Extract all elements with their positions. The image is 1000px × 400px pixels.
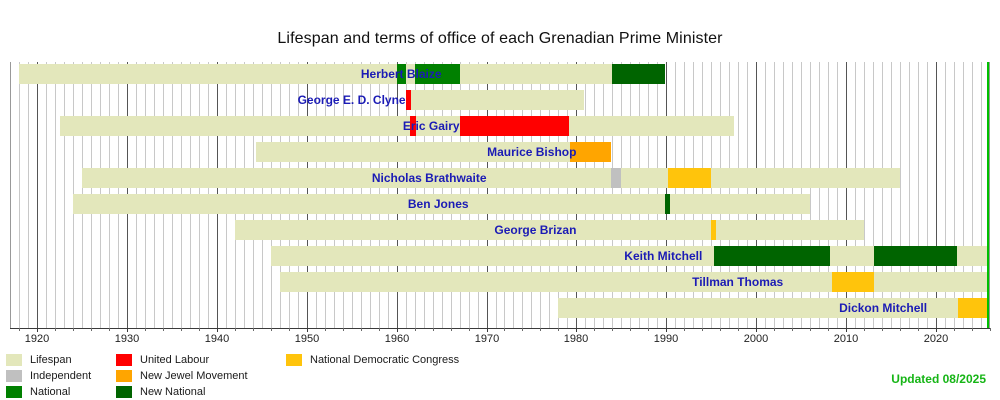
axis-tick-minor (882, 328, 883, 331)
timeline-row: Eric Gairy (10, 116, 990, 136)
timeline-row: Keith Mitchell (10, 246, 990, 266)
term-segment (612, 64, 665, 84)
axis-tick-minor (684, 328, 685, 331)
term-segment (711, 220, 715, 240)
timeline-row: George E. D. Clyne (10, 90, 990, 110)
row-label: Tillman Thomas (692, 272, 783, 292)
timeline-row: Tillman Thomas (10, 272, 990, 292)
term-segment (611, 168, 621, 188)
legend-swatch (6, 386, 22, 398)
axis-tick-minor (145, 328, 146, 331)
axis-tick-minor (972, 328, 973, 331)
timeline-row: Nicholas Brathwaite (10, 168, 990, 188)
term-segment (406, 90, 411, 110)
lifespan-bar (280, 272, 988, 292)
axis-tick-major (397, 328, 398, 332)
axis-tick-minor (648, 328, 649, 331)
axis-tick-minor (469, 328, 470, 331)
axis-tick-label: 1980 (564, 333, 588, 345)
axis-tick-minor (612, 328, 613, 331)
term-segment (460, 116, 570, 136)
x-axis: 1920193019401950196019701980199020002010… (10, 328, 990, 354)
axis-tick-minor (504, 328, 505, 331)
axis-tick-minor (522, 328, 523, 331)
legend-swatch (6, 370, 22, 382)
row-label: Dickon Mitchell (839, 298, 927, 318)
term-segment (668, 168, 711, 188)
axis-tick-minor (630, 328, 631, 331)
axis-tick-minor (271, 328, 272, 331)
axis-tick-minor (720, 328, 721, 331)
legend-label: Independent (30, 369, 91, 383)
lifespan-bar (19, 64, 665, 84)
legend-label: New Jewel Movement (140, 369, 248, 383)
legend-swatch (116, 386, 132, 398)
chart-legend: LifespanIndependentNationalUnited Labour… (6, 353, 646, 399)
axis-tick-minor (702, 328, 703, 331)
axis-tick-minor (864, 328, 865, 331)
axis-tick-minor (990, 328, 991, 331)
axis-tick-minor (19, 328, 20, 331)
axis-tick-major (37, 328, 38, 332)
row-label: Nicholas Brathwaite (372, 168, 487, 188)
axis-tick-major (666, 328, 667, 332)
axis-tick-label: 1920 (25, 333, 49, 345)
axis-tick-label: 2000 (744, 333, 768, 345)
axis-tick-minor (558, 328, 559, 331)
timeline-row: George Brizan (10, 220, 990, 240)
axis-tick-minor (415, 328, 416, 331)
axis-tick-minor (594, 328, 595, 331)
axis-tick-label: 1950 (295, 333, 319, 345)
row-label: Ben Jones (408, 194, 469, 214)
axis-tick-minor (109, 328, 110, 331)
axis-tick-label: 2020 (924, 333, 948, 345)
axis-tick-label: 1990 (654, 333, 678, 345)
legend-swatch (6, 354, 22, 366)
legend-label: New National (140, 385, 205, 399)
axis-tick-minor (163, 328, 164, 331)
updated-stamp: Updated 08/2025 (891, 372, 986, 386)
legend-label: National (30, 385, 70, 399)
legend-swatch (116, 370, 132, 382)
axis-tick-minor (810, 328, 811, 331)
axis-tick-minor (540, 328, 541, 331)
axis-tick-minor (199, 328, 200, 331)
axis-tick-major (846, 328, 847, 332)
lifespan-bar (82, 168, 900, 188)
axis-tick-label: 1940 (205, 333, 229, 345)
axis-line (10, 328, 990, 329)
axis-tick-minor (235, 328, 236, 331)
term-segment (832, 272, 874, 292)
timeline-row: Ben Jones (10, 194, 990, 214)
axis-tick-minor (918, 328, 919, 331)
axis-tick-major (307, 328, 308, 332)
axis-tick-minor (325, 328, 326, 331)
axis-tick-minor (289, 328, 290, 331)
axis-tick-minor (181, 328, 182, 331)
axis-tick-label: 1930 (115, 333, 139, 345)
axis-tick-minor (792, 328, 793, 331)
axis-tick-minor (73, 328, 74, 331)
timeline-row: Maurice Bishop (10, 142, 990, 162)
axis-tick-minor (379, 328, 380, 331)
axis-tick-minor (828, 328, 829, 331)
chart-title: Lifespan and terms of office of each Gre… (0, 30, 1000, 48)
axis-tick-minor (361, 328, 362, 331)
axis-tick-minor (774, 328, 775, 331)
term-segment (714, 246, 830, 266)
row-label: Maurice Bishop (487, 142, 576, 162)
legend-swatch (286, 354, 302, 366)
row-label: Keith Mitchell (624, 246, 702, 266)
plot-area: Herbert BlaizeGeorge E. D. ClyneEric Gai… (10, 62, 990, 328)
row-label: George Brizan (494, 220, 576, 240)
axis-tick-minor (253, 328, 254, 331)
legend-label: Lifespan (30, 353, 72, 367)
timeline-row: Dickon Mitchell (10, 298, 990, 318)
axis-tick-major (576, 328, 577, 332)
axis-tick-minor (954, 328, 955, 331)
axis-tick-label: 1960 (385, 333, 409, 345)
timeline-row: Herbert Blaize (10, 64, 990, 84)
lifespan-bar (406, 90, 584, 110)
axis-tick-minor (433, 328, 434, 331)
axis-tick-minor (738, 328, 739, 331)
axis-tick-label: 1970 (475, 333, 499, 345)
lifespan-bar (60, 116, 733, 136)
axis-tick-minor (343, 328, 344, 331)
axis-tick-label: 2010 (834, 333, 858, 345)
gantt-chart: Lifespan and terms of office of each Gre… (0, 0, 1000, 400)
axis-tick-major (936, 328, 937, 332)
axis-tick-minor (900, 328, 901, 331)
axis-tick-minor (55, 328, 56, 331)
axis-tick-minor (91, 328, 92, 331)
term-segment (665, 194, 669, 214)
axis-tick-major (217, 328, 218, 332)
term-segment (958, 298, 988, 318)
legend-label: National Democratic Congress (310, 353, 459, 367)
legend-label: United Labour (140, 353, 209, 367)
row-label: Eric Gairy (403, 116, 460, 136)
row-label: George E. D. Clyne (298, 90, 406, 110)
axis-tick-major (487, 328, 488, 332)
row-label: Herbert Blaize (361, 64, 442, 84)
axis-tick-major (127, 328, 128, 332)
legend-swatch (116, 354, 132, 366)
term-segment (874, 246, 957, 266)
axis-tick-minor (451, 328, 452, 331)
axis-tick-major (756, 328, 757, 332)
